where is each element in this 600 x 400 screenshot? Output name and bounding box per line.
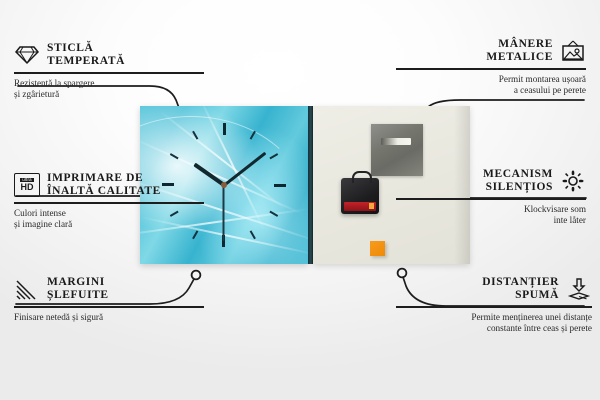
foam-spacer: [370, 241, 385, 256]
hanger-slot: [381, 138, 411, 145]
callout-rule: [14, 306, 204, 308]
callout-title: STICLĂ TEMPERATĂ: [47, 42, 125, 68]
callout-rule: [14, 202, 204, 204]
callout-desc: Klockvisare som inte låter: [396, 204, 586, 227]
gear-icon: [560, 169, 586, 193]
callout-edges: MARGINI ȘLEFUITE Finisare netedă și sigu…: [14, 276, 204, 323]
callout-mechanism: MECANISM SILENȚIOS Klockvisare som inte …: [396, 168, 586, 227]
wall-hanger-icon: [560, 39, 586, 63]
callout-title: MECANISM SILENȚIOS: [483, 168, 553, 194]
callout-desc: Permit montarea ușoară a ceasului pe per…: [396, 74, 586, 97]
clock-mechanism: [341, 178, 379, 214]
callout-rule: [396, 198, 586, 200]
ultra-hd-icon: ultra HD: [14, 173, 40, 197]
callout-handles: MÂNERE METALICE Permit montarea ușoară a…: [396, 38, 586, 97]
callout-spacer: DISTANȚIER SPUMĂ Permite menținerea unei…: [396, 276, 592, 335]
callout-desc: Finisare netedă și sigură: [14, 312, 204, 324]
infographic-canvas: STICLĂ TEMPERATĂ Rezistentă la spargere …: [0, 0, 600, 400]
foam-spacer-arrow-icon: [566, 277, 592, 301]
callout-rule: [396, 306, 592, 308]
callout-desc: Rezistentă la spargere și zgârietură: [14, 78, 204, 101]
callout-title: MÂNERE METALICE: [486, 38, 553, 64]
callout-desc: Permite menținerea unei distanțe constan…: [396, 312, 592, 335]
callout-rule: [396, 68, 586, 70]
diamond-icon: [14, 43, 40, 67]
mechanism-hook: [352, 171, 372, 183]
callout-title: IMPRIMARE DE ÎNALTĂ CALITATE: [47, 172, 161, 198]
callout-desc: Culori intense și imagine clară: [14, 208, 204, 231]
callout-print: ultra HD IMPRIMARE DE ÎNALTĂ CALITATE Cu…: [14, 172, 204, 231]
battery: [344, 202, 376, 211]
clock-center-hub: [221, 182, 227, 188]
callout-rule: [14, 72, 204, 74]
callout-title: DISTANȚIER SPUMĂ: [482, 276, 559, 302]
clock-tick: [224, 184, 286, 186]
callout-glass: STICLĂ TEMPERATĂ Rezistentă la spargere …: [14, 42, 204, 101]
clock-tick: [223, 123, 225, 185]
callout-title: MARGINI ȘLEFUITE: [47, 276, 109, 302]
polished-edges-icon: [14, 277, 40, 301]
